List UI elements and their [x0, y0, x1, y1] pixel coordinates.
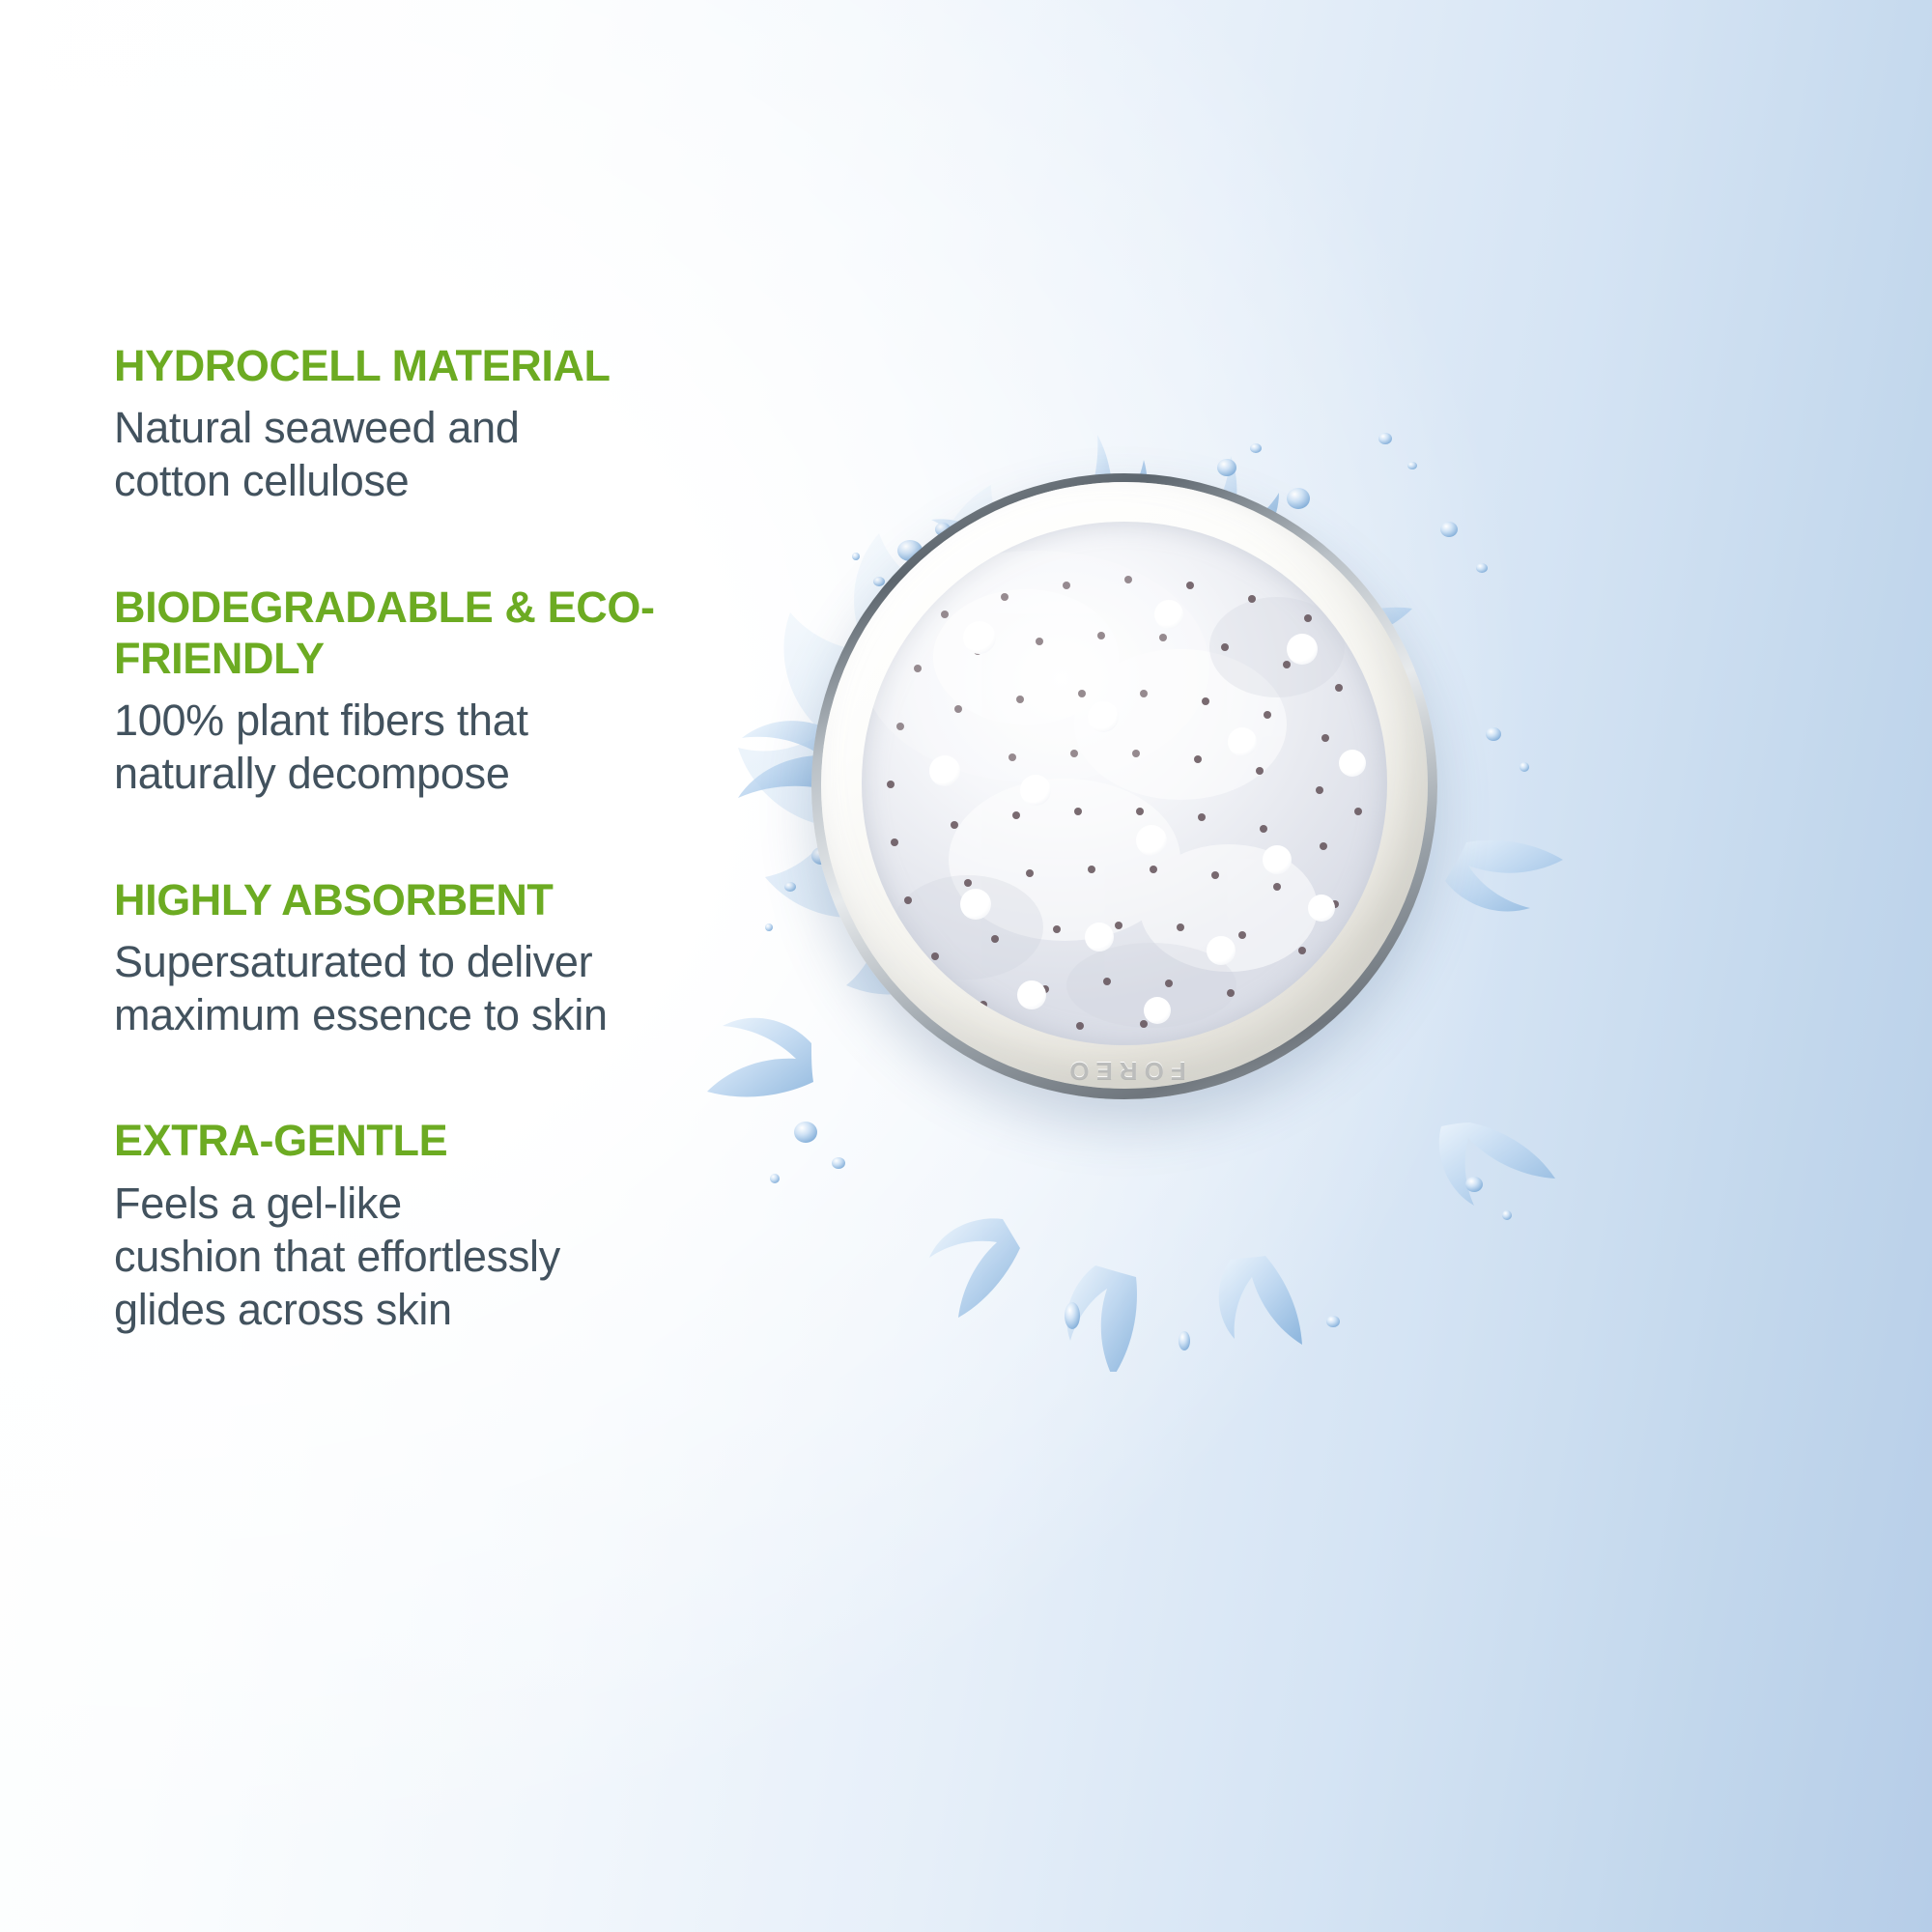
disc-perforated-face [862, 522, 1387, 1045]
infographic-poster: HYDROCELL MATERIAL Natural seaweed and c… [0, 0, 1932, 1932]
hydrocell-mask-disc: FOREO [811, 473, 1437, 1099]
feature-title: HYDROCELL MATERIAL [114, 340, 848, 391]
feature-title-line: BIODEGRADABLE & [114, 582, 536, 632]
perforation-pattern-icon [862, 522, 1387, 1045]
product-image: FOREO [667, 406, 1575, 1372]
